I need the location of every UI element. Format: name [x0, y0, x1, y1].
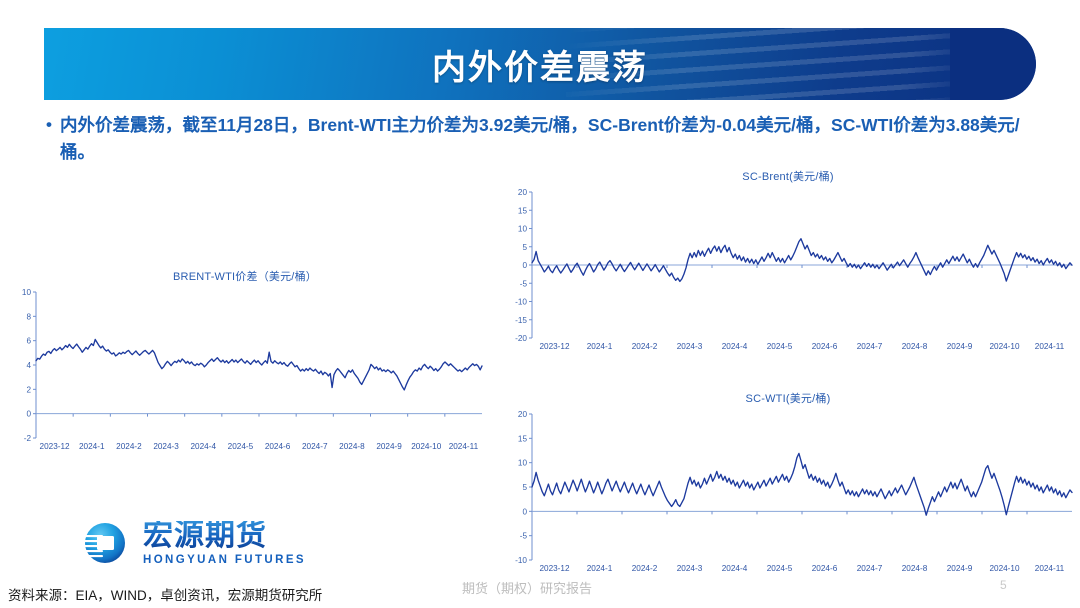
svg-text:2024-2: 2024-2 [632, 342, 658, 351]
hongyuan-emblem-icon [75, 515, 131, 571]
svg-text:2024-7: 2024-7 [857, 564, 883, 573]
chart-sc-wti: SC-WTI(美元/桶) -10-5051015202023-122024-12… [498, 390, 1078, 586]
logo-name-cn: 宏源期货 [143, 521, 306, 551]
svg-text:2024-6: 2024-6 [265, 442, 291, 451]
svg-text:2024-7: 2024-7 [302, 442, 328, 451]
svg-text:2024-5: 2024-5 [767, 342, 793, 351]
svg-text:2024-9: 2024-9 [947, 564, 973, 573]
svg-text:2: 2 [26, 385, 31, 394]
svg-text:2024-6: 2024-6 [812, 564, 838, 573]
svg-text:-5: -5 [520, 532, 528, 541]
chart-sc-brent-plot: -20-15-10-5051015202023-122024-12024-220… [498, 184, 1078, 364]
chart-sc-brent: SC-Brent(美元/桶) -20-15-10-5051015202023-1… [498, 168, 1078, 364]
svg-text:-10: -10 [515, 298, 527, 307]
chart-sc-brent-title: SC-Brent(美元/桶) [498, 168, 1078, 184]
svg-text:15: 15 [518, 434, 528, 443]
svg-text:2023-12: 2023-12 [539, 564, 569, 573]
logo-name-en: HONGYUAN FUTURES [143, 554, 306, 566]
svg-text:10: 10 [518, 459, 528, 468]
svg-text:2024-10: 2024-10 [989, 342, 1019, 351]
svg-text:2024-2: 2024-2 [632, 564, 658, 573]
chart-brent-wti-plot: -202468102023-122024-12024-22024-32024-4… [2, 284, 488, 464]
page-number: 5 [1000, 578, 1007, 592]
bullet-paragraph: • 内外价差震荡，截至11月28日，Brent-WTI主力价差为3.92美元/桶… [46, 112, 1021, 166]
svg-text:2024-6: 2024-6 [812, 342, 838, 351]
svg-text:20: 20 [518, 188, 528, 197]
header-banner: 内外价差震荡 [44, 28, 1036, 100]
svg-text:2024-8: 2024-8 [339, 442, 365, 451]
svg-text:2023-12: 2023-12 [539, 342, 569, 351]
svg-text:2024-3: 2024-3 [677, 342, 703, 351]
svg-text:-2: -2 [24, 434, 32, 443]
svg-text:2024-5: 2024-5 [767, 564, 793, 573]
svg-text:10: 10 [518, 225, 528, 234]
svg-text:2024-10: 2024-10 [989, 564, 1019, 573]
chart-sc-wti-plot: -10-5051015202023-122024-12024-22024-320… [498, 406, 1078, 586]
svg-text:2024-9: 2024-9 [376, 442, 402, 451]
svg-text:2024-11: 2024-11 [1035, 564, 1065, 573]
bullet-text: 内外价差震荡，截至11月28日，Brent-WTI主力价差为3.92美元/桶，S… [60, 112, 1021, 166]
svg-text:2024-11: 2024-11 [449, 442, 479, 451]
chart-sc-wti-title: SC-WTI(美元/桶) [498, 390, 1078, 406]
svg-text:-5: -5 [520, 279, 528, 288]
chart-brent-wti-title: BRENT-WTI价差（美元/桶） [2, 268, 488, 284]
svg-text:2024-8: 2024-8 [902, 564, 928, 573]
svg-text:2024-3: 2024-3 [153, 442, 179, 451]
svg-text:2024-10: 2024-10 [411, 442, 441, 451]
svg-text:5: 5 [522, 483, 527, 492]
svg-text:2024-8: 2024-8 [902, 342, 928, 351]
chart-brent-wti: BRENT-WTI价差（美元/桶） -202468102023-122024-1… [2, 268, 488, 464]
svg-text:2024-9: 2024-9 [947, 342, 973, 351]
svg-text:-15: -15 [515, 316, 527, 325]
svg-text:0: 0 [26, 410, 31, 419]
svg-text:2024-3: 2024-3 [677, 564, 703, 573]
svg-text:2024-4: 2024-4 [722, 564, 748, 573]
svg-text:-20: -20 [515, 334, 527, 343]
svg-text:2024-2: 2024-2 [116, 442, 142, 451]
svg-text:2024-4: 2024-4 [722, 342, 748, 351]
svg-text:2024-5: 2024-5 [228, 442, 254, 451]
svg-text:0: 0 [522, 507, 527, 516]
source-note: 资料来源：EIA，WIND，卓创资讯，宏源期货研究所 [8, 584, 322, 604]
svg-text:2024-4: 2024-4 [191, 442, 217, 451]
page-title: 内外价差震荡 [44, 28, 1036, 100]
svg-text:2024-11: 2024-11 [1035, 342, 1065, 351]
logo-text-block: 宏源期货 HONGYUAN FUTURES [143, 521, 306, 566]
svg-text:6: 6 [26, 337, 31, 346]
svg-text:8: 8 [26, 312, 31, 321]
svg-text:-10: -10 [515, 556, 527, 565]
svg-text:4: 4 [26, 361, 31, 370]
svg-text:0: 0 [522, 261, 527, 270]
footer-watermark: 期货（期权）研究报告 [462, 578, 592, 597]
bullet-marker-icon: • [46, 112, 52, 138]
svg-text:5: 5 [522, 243, 527, 252]
svg-text:2024-1: 2024-1 [79, 442, 105, 451]
svg-text:2024-1: 2024-1 [587, 342, 613, 351]
svg-text:2024-7: 2024-7 [857, 342, 883, 351]
svg-text:2023-12: 2023-12 [40, 442, 70, 451]
svg-text:20: 20 [518, 410, 528, 419]
company-logo: 宏源期货 HONGYUAN FUTURES [75, 515, 306, 571]
svg-text:15: 15 [518, 206, 528, 215]
svg-text:2024-1: 2024-1 [587, 564, 613, 573]
svg-text:10: 10 [22, 288, 32, 297]
